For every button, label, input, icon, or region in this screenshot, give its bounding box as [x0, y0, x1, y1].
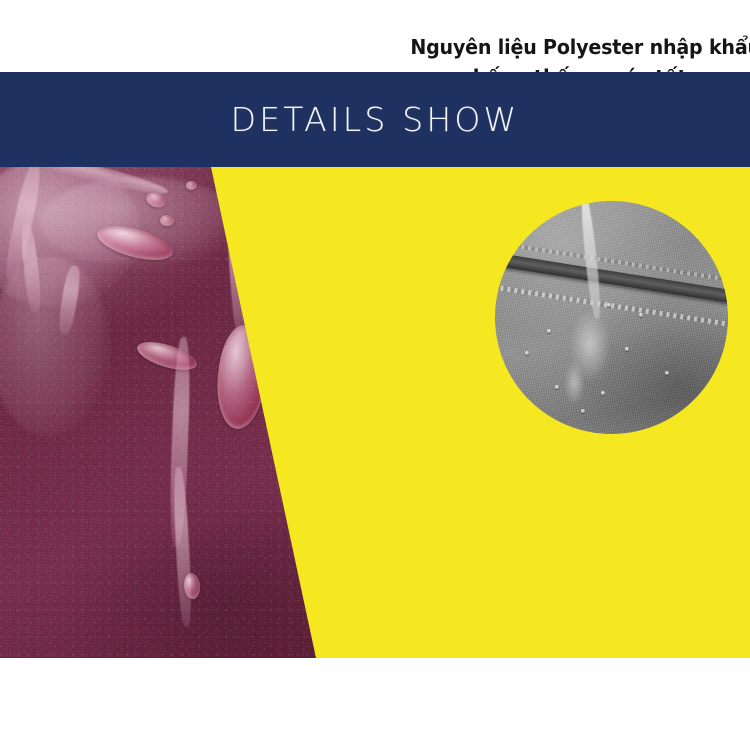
water-splash [551, 307, 629, 415]
magnified-detail-circle [495, 201, 728, 434]
water-microdroplet [665, 371, 669, 375]
headline-line-1: Nguyên liệu Polyester nhập khẩu [410, 32, 737, 63]
water-microdroplet [625, 347, 629, 351]
page-title: DETAILS SHOW [231, 100, 520, 139]
product-detail-image: DETAILS SHOW Nguyên liệu Polyester nhập … [0, 0, 750, 750]
water-microdroplet [639, 313, 643, 317]
water-microdroplet [607, 303, 611, 307]
inset-fabric-gray [495, 201, 728, 434]
water-microdroplet [601, 391, 605, 395]
water-microdroplet [525, 351, 529, 355]
water-bead [186, 181, 197, 190]
header-banner: DETAILS SHOW [0, 72, 750, 167]
water-microdroplet [581, 409, 585, 413]
water-bead [160, 215, 174, 226]
water-microdroplet [547, 329, 551, 333]
water-microdroplet [555, 385, 559, 389]
